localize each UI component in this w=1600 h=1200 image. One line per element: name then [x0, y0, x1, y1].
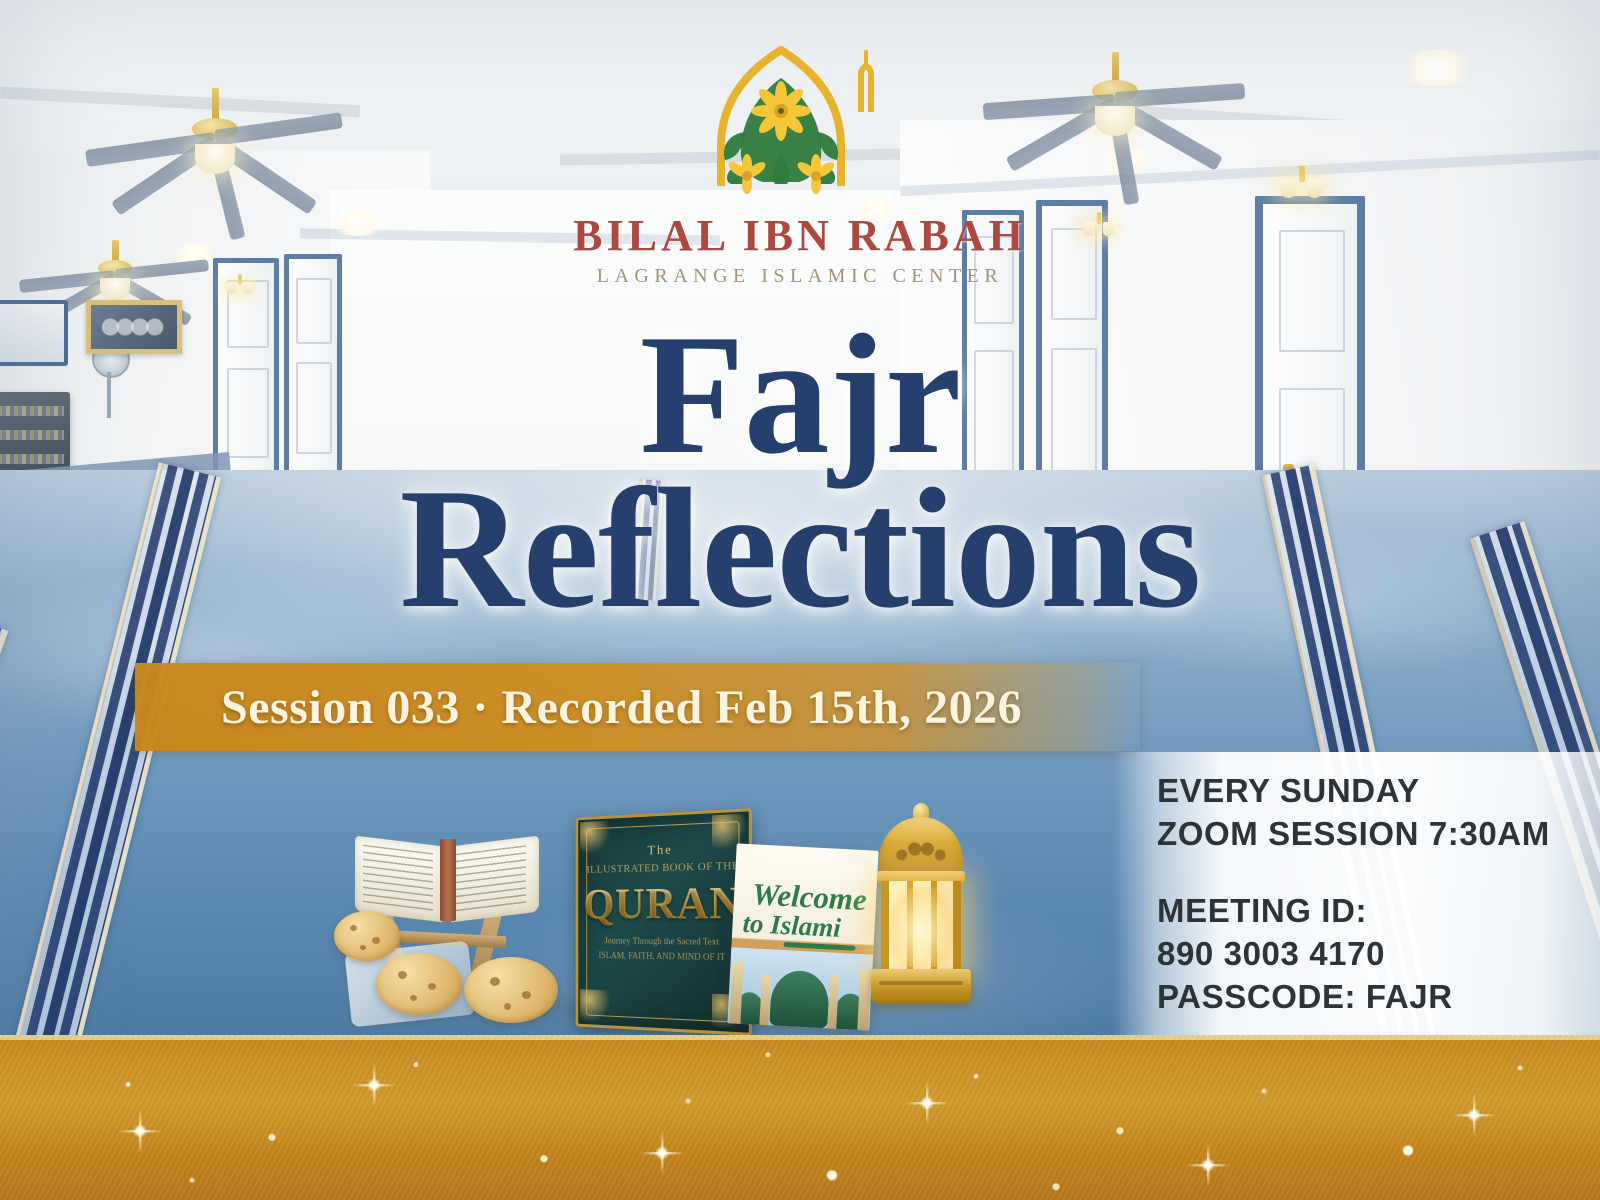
sparkle-icon [1186, 1143, 1230, 1187]
wall-art-frame [86, 300, 182, 354]
sparkle-icon [352, 1063, 396, 1107]
brochure-mosque-skyline [727, 947, 873, 1030]
organization-subtitle: LAGRANGE ISLAMIC CENTER [0, 265, 1600, 288]
session-banner: Session 033 · Recorded Feb 15th, 2026 [135, 663, 1140, 751]
still-life-arrangement: The ILLUSTRATED BOOK OF THE QURAN Journe… [320, 795, 1060, 1045]
sparkle-icon [118, 1109, 162, 1153]
glitter-grain [0, 1035, 1600, 1200]
schedule-day: EVERY SUNDAY [1157, 770, 1594, 813]
cookie [376, 953, 462, 1015]
quran-box-title: QURAN [578, 876, 749, 929]
spacer [1157, 856, 1594, 890]
passcode-value: PASSCODE: FAJR [1157, 976, 1594, 1019]
bottom-gold-glitter-band [0, 1035, 1600, 1200]
zoom-info-panel: EVERY SUNDAY ZOOM SESSION 7:30AM MEETING… [1113, 752, 1600, 1037]
sparkle-icon [1452, 1093, 1496, 1137]
open-book-icon [352, 837, 542, 921]
cookie [334, 911, 400, 961]
schedule-time: ZOOM SESSION 7:30AM [1157, 813, 1594, 856]
session-banner-text: Session 033 · Recorded Feb 15th, 2026 [221, 680, 1022, 735]
sparkle-icon [640, 1131, 684, 1175]
meeting-id-label: MEETING ID: [1157, 890, 1594, 933]
air-conditioner [0, 300, 68, 366]
mosque-dome-floral-icon [685, 34, 915, 214]
brochure-underline [783, 942, 855, 951]
brochure-word-2: to Islami [742, 908, 842, 944]
organization-logo: BILAL IBN RABAH LAGRANGE ISLAMIC CENTER [0, 34, 1600, 288]
fajr-reflections-poster: BILAL IBN RABAH LAGRANGE ISLAMIC CENTER … [0, 0, 1600, 1200]
quran-gift-box: The ILLUSTRATED BOOK OF THE QURAN Journe… [576, 808, 752, 1036]
sparkle-icon [905, 1081, 949, 1125]
quran-box-blurb: Journey Through the Sacred Text ISLAM, F… [594, 934, 730, 966]
welcome-brochure: Welcome to Islami [727, 843, 878, 1030]
gold-lantern-icon [865, 803, 977, 1018]
meeting-id-value: 890 3003 4170 [1157, 933, 1594, 976]
organization-name: BILAL IBN RABAH [0, 210, 1600, 261]
cookie [464, 957, 558, 1023]
